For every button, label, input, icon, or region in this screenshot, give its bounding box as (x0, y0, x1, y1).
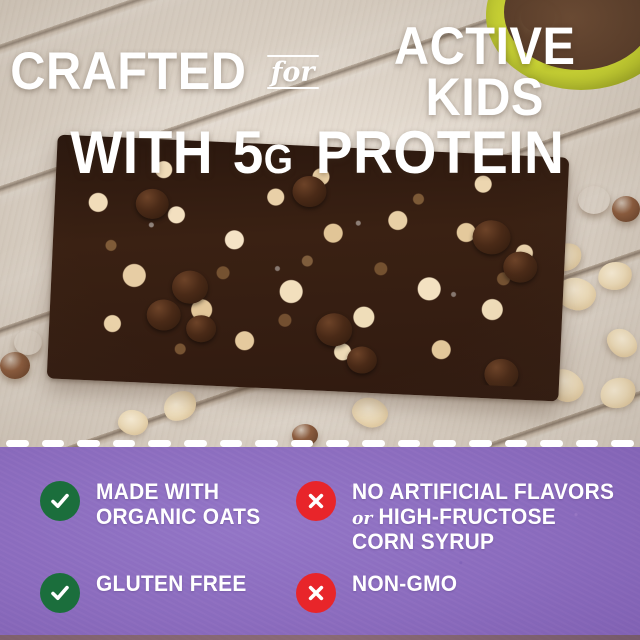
headline-line-2: WITH 5G PROTEIN (0, 124, 640, 182)
claim-line: ORGANIC OATS (96, 505, 260, 530)
divider-dash (291, 440, 314, 447)
claim-no-artificial-flavors: NO ARTIFICIAL FLAVORS or HIGH-FRUCTOSE C… (296, 480, 628, 555)
claim-text: NO ARTIFICIAL FLAVORS or HIGH-FRUCTOSE C… (352, 480, 614, 555)
divider-dash (220, 440, 243, 447)
headline-word-crafted: CRAFTED (10, 47, 246, 98)
headline: CRAFTED for ACTIVE KIDS WITH 5G PROTEIN (0, 22, 640, 181)
divider-dash (540, 440, 563, 447)
claim-line: CORN SYRUP (352, 530, 614, 555)
divider-dash (113, 440, 136, 447)
claim-line: NON-GMO (352, 572, 457, 597)
claim-organic-oats: MADE WITH ORGANIC OATS (40, 480, 269, 530)
check-icon (40, 481, 80, 521)
divider-dash (148, 440, 171, 447)
product-claims-graphic: CRAFTED for ACTIVE KIDS WITH 5G PROTEIN (0, 0, 640, 640)
claim-text: NON-GMO (352, 572, 457, 597)
divider-dash (255, 440, 278, 447)
claim-line: NO ARTIFICIAL FLAVORS (352, 480, 614, 505)
divider-dash (184, 440, 207, 447)
claims-panel: MADE WITH ORGANIC OATS NO ARTIFICIAL FLA… (0, 447, 640, 640)
x-icon (296, 573, 336, 613)
headline-protein-unit: G (264, 136, 293, 182)
check-icon (40, 573, 80, 613)
claim-line-with-script: or HIGH-FRUCTOSE (352, 505, 614, 530)
x-icon (296, 481, 336, 521)
headline-line-1: CRAFTED for ACTIVE KIDS (0, 22, 640, 124)
claim-non-gmo: NON-GMO (296, 572, 463, 613)
claim-line: MADE WITH (96, 480, 260, 505)
divider-dash (576, 440, 599, 447)
claim-line: GLUTEN FREE (96, 572, 247, 597)
dashed-divider (0, 438, 640, 449)
divider-dash (362, 440, 385, 447)
divider-dash (469, 440, 492, 447)
divider-dash (611, 440, 634, 447)
headline-word-protein: PROTEIN (316, 124, 565, 182)
headline-word-with: WITH (71, 124, 214, 182)
divider-dash (433, 440, 456, 447)
divider-dash (6, 440, 29, 447)
headline-words-active-kids: ACTIVE KIDS (341, 22, 628, 124)
panel-bottom-edge (0, 635, 640, 640)
headline-script-for: for (267, 60, 319, 86)
headline-protein-amount: 5G (232, 124, 292, 182)
claim-line: HIGH-FRUCTOSE (379, 504, 557, 529)
claim-text: GLUTEN FREE (96, 572, 247, 597)
claims-list: MADE WITH ORGANIC OATS NO ARTIFICIAL FLA… (0, 447, 640, 640)
divider-dash (398, 440, 421, 447)
divider-dash (42, 440, 65, 447)
divider-dash (77, 440, 100, 447)
claim-gluten-free: GLUTEN FREE (40, 572, 255, 613)
divider-dash (326, 440, 349, 447)
claim-text: MADE WITH ORGANIC OATS (96, 480, 260, 530)
divider-dash (505, 440, 528, 447)
claim-script-or: or (352, 508, 372, 529)
